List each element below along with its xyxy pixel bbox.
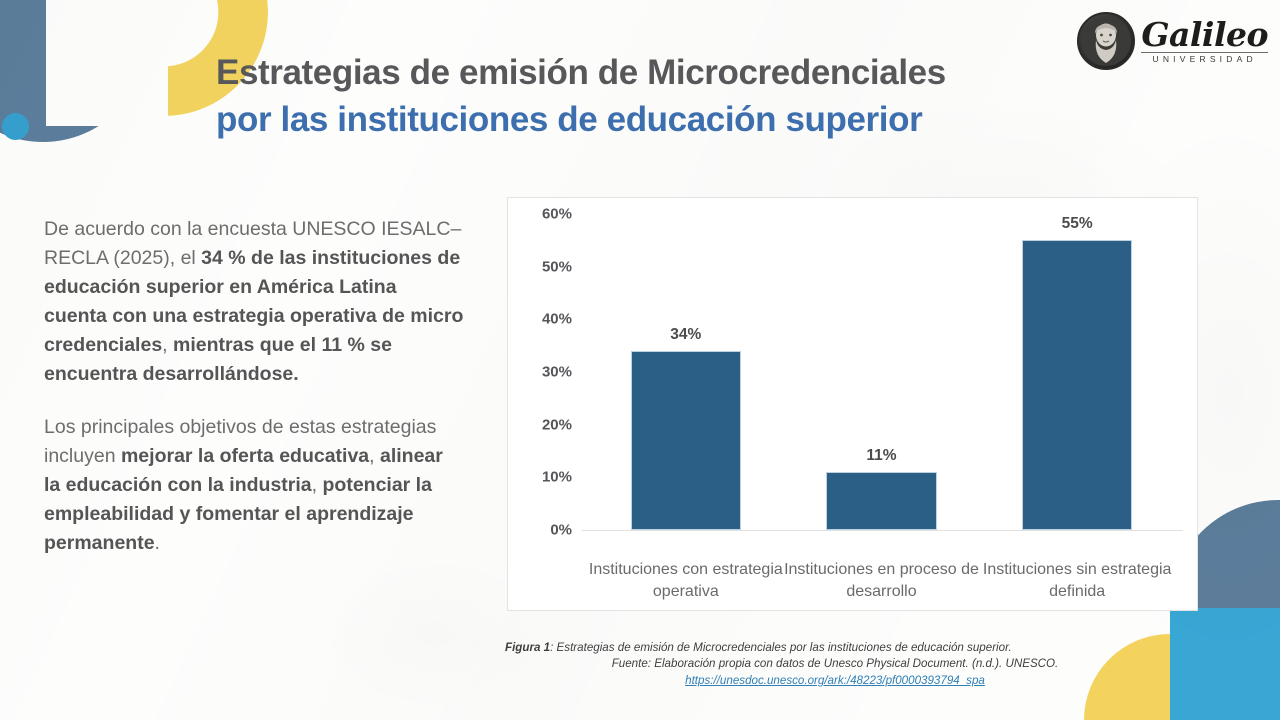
bar-group: 55% bbox=[1022, 215, 1133, 530]
logo-wordmark: Galileo UNIVERSIDAD bbox=[1141, 18, 1268, 64]
logo-subtitle: UNIVERSIDAD bbox=[1141, 52, 1268, 64]
caption-line-2: Fuente: Elaboración propia con datos de … bbox=[505, 656, 1165, 672]
x-axis-category-label: Instituciones con estrategia operativa bbox=[588, 559, 784, 602]
y-axis-tick: 60% bbox=[518, 206, 572, 223]
y-axis-tick: 0% bbox=[518, 522, 572, 539]
caption-line-3: https://unesdoc.unesco.org/ark:/48223/pf… bbox=[505, 673, 1165, 689]
caption-line-1: Figura 1: Estrategias de emisión de Micr… bbox=[505, 640, 1165, 656]
plot-area: 34%11%55% bbox=[588, 214, 1175, 530]
bar-value-label: 34% bbox=[670, 326, 701, 344]
galileo-university-logo: Galileo UNIVERSIDAD bbox=[1077, 12, 1268, 70]
y-axis-tick: 30% bbox=[518, 364, 572, 381]
bar-value-label: 55% bbox=[1062, 215, 1093, 233]
body-text-column: De acuerdo con la encuesta UNESCO IESALC… bbox=[44, 215, 464, 583]
axis-baseline bbox=[582, 530, 1183, 532]
decor-square-cyan-bottomright bbox=[1170, 608, 1280, 720]
p1-seg2: , bbox=[162, 334, 173, 356]
bar[interactable] bbox=[631, 351, 742, 530]
caption-text-1: : Estrategias de emisión de Microcredenc… bbox=[550, 641, 1012, 654]
y-axis-tick: 20% bbox=[518, 416, 572, 433]
title-line-main: Estrategias de emisión de Microcredencia… bbox=[216, 50, 946, 97]
logo-name: Galileo bbox=[1141, 18, 1268, 51]
figure-caption: Figura 1: Estrategias de emisión de Micr… bbox=[505, 640, 1165, 689]
chart-card: 0%10%20%30%40%50%60% 34%11%55% Instituci… bbox=[507, 197, 1198, 611]
p2-seg4: . bbox=[155, 532, 160, 554]
page-title: Estrategias de emisión de Microcredencia… bbox=[216, 50, 946, 143]
paragraph-2: Los principales objetivos de estas estra… bbox=[44, 413, 464, 558]
y-axis-tick: 40% bbox=[518, 311, 572, 328]
p2-seg3: , bbox=[312, 474, 323, 496]
decor-dot-blue-topleft bbox=[2, 113, 29, 140]
source-link[interactable]: https://unesdoc.unesco.org/ark:/48223/pf… bbox=[685, 674, 985, 687]
bar-group: 11% bbox=[826, 447, 937, 530]
bar[interactable] bbox=[1022, 240, 1133, 530]
bar[interactable] bbox=[826, 472, 937, 530]
bar-value-label: 11% bbox=[866, 447, 896, 465]
p2-seg2: , bbox=[369, 445, 380, 467]
p2-bold1: mejorar la oferta educativa bbox=[121, 445, 369, 467]
galileo-portrait-icon bbox=[1077, 12, 1135, 70]
x-axis-category-label: Instituciones en proceso de desarrollo bbox=[784, 559, 980, 602]
title-line-sub: por las instituciones de educación super… bbox=[216, 97, 946, 144]
x-axis-category-label: Instituciones sin estrategia definida bbox=[979, 559, 1175, 602]
decor-arc-mask bbox=[46, 0, 168, 126]
figure-label: Figura 1 bbox=[505, 641, 550, 654]
paragraph-1: De acuerdo con la encuesta UNESCO IESALC… bbox=[44, 215, 464, 389]
y-axis-tick: 10% bbox=[518, 469, 572, 486]
bar-group: 34% bbox=[631, 326, 742, 530]
bar-chart: 0%10%20%30%40%50%60% 34%11%55% Instituci… bbox=[508, 198, 1197, 610]
y-axis-tick: 50% bbox=[518, 258, 572, 275]
